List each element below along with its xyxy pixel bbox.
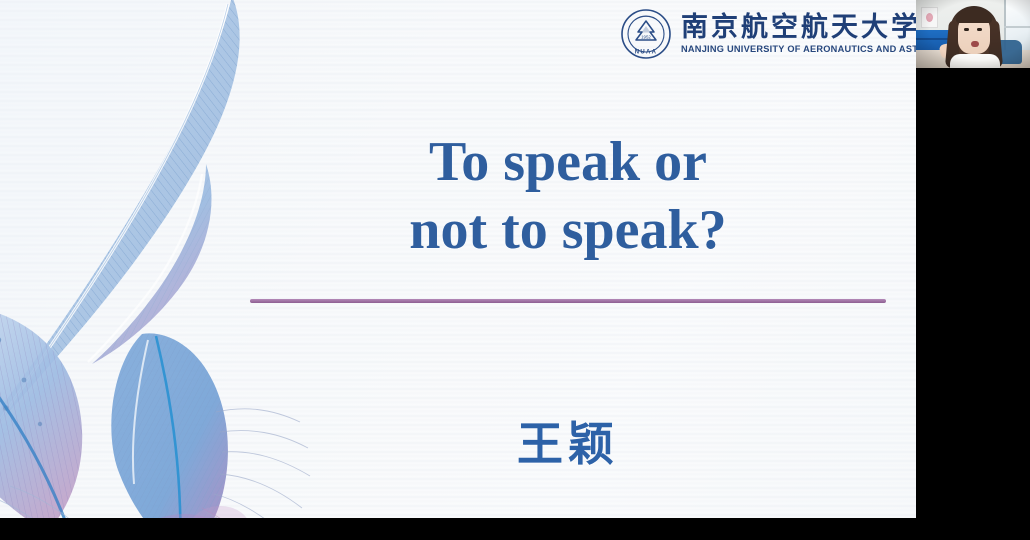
svg-text:1952: 1952 <box>641 35 651 40</box>
university-name-cn: 南京航空航天大学 <box>681 13 916 41</box>
slide-title-line-2: not to speak? <box>250 196 886 264</box>
presentation-slide[interactable]: 1952 NUAA 南京航空航天大学 NANJING UNIVERSITY OF… <box>0 0 916 518</box>
nuaa-emblem-icon: 1952 NUAA <box>620 8 672 60</box>
presenter-name: 王颖 <box>250 408 886 474</box>
presenter-camera-feed[interactable] <box>916 0 1030 68</box>
slide-title: To speak or not to speak? <box>250 128 886 265</box>
camera-vignette <box>916 0 1030 68</box>
university-logo: 1952 NUAA 南京航空航天大学 NANJING UNIVERSITY OF… <box>620 8 916 60</box>
screen-recording-frame: 1952 NUAA 南京航空航天大学 NANJING UNIVERSITY OF… <box>0 0 1030 540</box>
university-name-en: NANJING UNIVERSITY OF AERONAUTICS AND AS… <box>681 44 916 55</box>
slide-title-line-1: To speak or <box>250 128 886 196</box>
svg-text:NUAA: NUAA <box>635 50 658 56</box>
title-divider-rule <box>250 299 886 303</box>
